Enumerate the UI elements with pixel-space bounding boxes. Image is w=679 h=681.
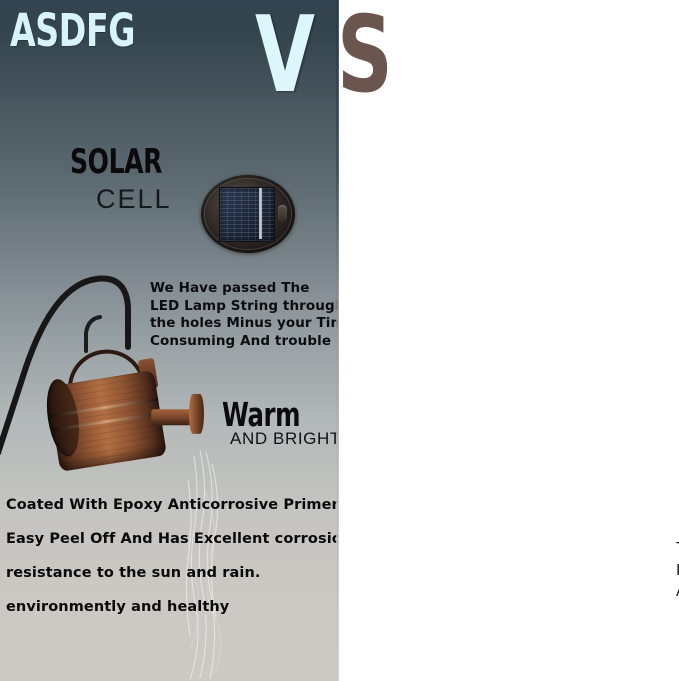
solar-cell-image	[201, 175, 295, 253]
solar-cell-subtitle: CELL	[96, 186, 172, 213]
solar-cell-face	[219, 187, 275, 242]
vs-letter-left: V	[255, 3, 315, 108]
brand-title: ASDFG	[10, 8, 135, 53]
vs-letter-right: S	[337, 3, 392, 108]
comparison-infographic: ASDFG SOLAR CELL We Have passed The LED …	[0, 0, 679, 681]
copper-watering-can-image	[34, 341, 244, 509]
left-bottom-benefits: Coated With Epoxy Anticorrosive Primer N…	[6, 488, 338, 624]
solar-cell-button	[278, 205, 287, 222]
warm-subtitle: AND BRIGHT	[230, 430, 338, 447]
solar-cell-busbar	[259, 188, 262, 239]
warm-title: Warm	[222, 398, 300, 431]
left-feature-paragraph: We Have passed The LED Lamp String throu…	[150, 280, 338, 350]
solar-cell-title: SOLAR	[70, 145, 162, 179]
copper-can-spout-head	[189, 394, 204, 434]
